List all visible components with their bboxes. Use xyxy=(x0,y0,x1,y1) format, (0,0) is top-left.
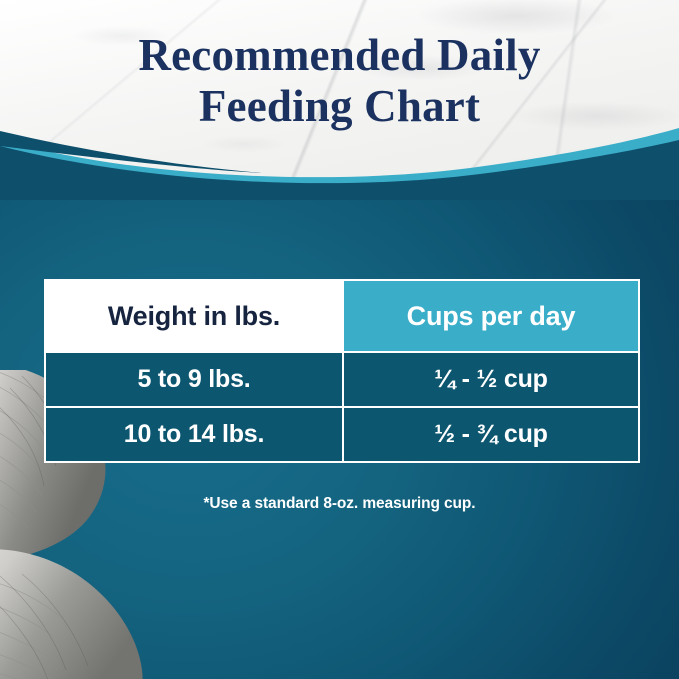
table-row: 5 to 9 lbs. ¼ - ½ cup xyxy=(45,352,639,407)
feeding-table: Weight in lbs. Cups per day 5 to 9 lbs. … xyxy=(44,279,640,463)
cell-cups: ¼ - ½ cup xyxy=(343,352,639,407)
column-header-weight: Weight in lbs. xyxy=(45,280,343,352)
title-line-2: Feeding Chart xyxy=(0,81,679,132)
feeding-chart-page: Recommended Daily Feeding Chart xyxy=(0,0,679,679)
table-row: 10 to 14 lbs. ½ - ¾ cup xyxy=(45,407,639,462)
table-head: Weight in lbs. Cups per day xyxy=(45,280,639,352)
cat-paw-lower xyxy=(0,549,143,679)
page-title: Recommended Daily Feeding Chart xyxy=(0,30,679,132)
cell-cups: ½ - ¾ cup xyxy=(343,407,639,462)
cell-weight: 10 to 14 lbs. xyxy=(45,407,343,462)
cell-weight: 5 to 9 lbs. xyxy=(45,352,343,407)
table-header-row: Weight in lbs. Cups per day xyxy=(45,280,639,352)
footnote-text: *Use a standard 8-oz. measuring cup. xyxy=(0,495,679,513)
title-line-1: Recommended Daily xyxy=(0,30,679,81)
column-header-cups: Cups per day xyxy=(343,280,639,352)
table-body: 5 to 9 lbs. ¼ - ½ cup 10 to 14 lbs. ½ - … xyxy=(45,352,639,462)
